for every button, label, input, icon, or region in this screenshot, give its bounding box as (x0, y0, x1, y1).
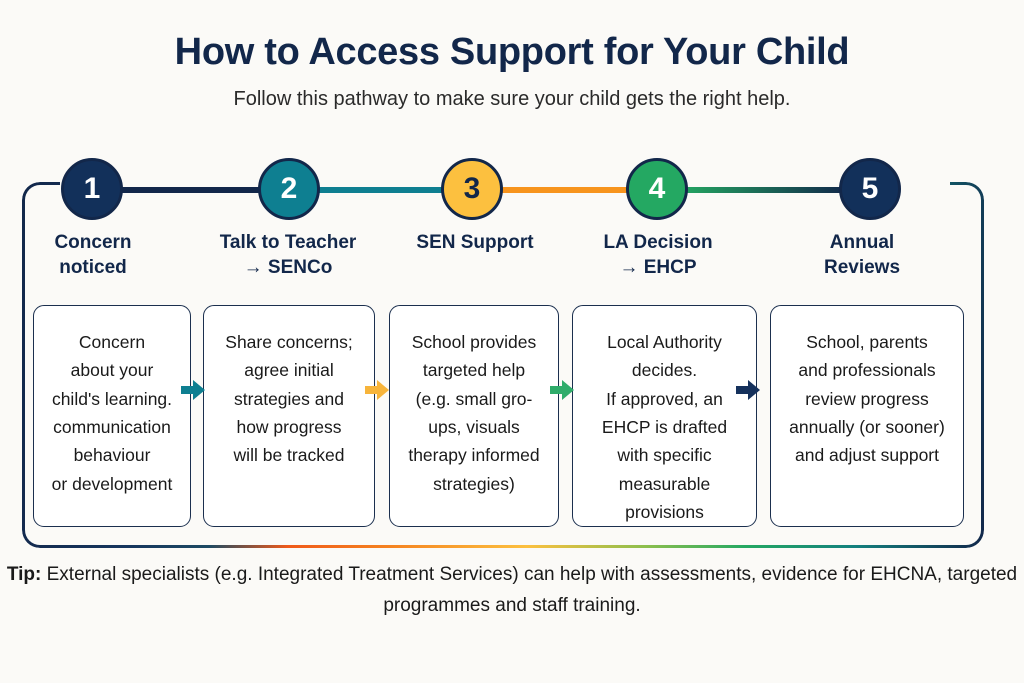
page-subtitle: Follow this pathway to make sure your ch… (0, 88, 1024, 111)
step-card-text-5: School, parents and professionals review… (771, 328, 963, 470)
header: How to Access Support for Your Child Fol… (0, 32, 1024, 111)
step-card-3[interactable]: School provides targeted help (e.g. smal… (389, 305, 559, 527)
step-heading-5: Annual Reviews (762, 230, 962, 280)
rail-connector-1-to-2 (114, 187, 267, 193)
step-card-1[interactable]: Concern about your child's learning. com… (33, 305, 191, 527)
step-card-text-4: Local Authority decides. If approved, an… (573, 328, 756, 526)
step-heading-2: Talk to Teacher → SENCo (196, 230, 380, 280)
tip-note: Tip: External specialists (e.g. Integrat… (0, 560, 1024, 622)
step-heading-3: SEN Support (384, 230, 566, 255)
step-card-text-1: Concern about your child's learning. com… (34, 328, 190, 498)
step-circle-3[interactable]: 3 (441, 158, 503, 220)
flow-arrow-4-to-5 (735, 377, 761, 403)
step-circle-5[interactable]: 5 (839, 158, 901, 220)
step-heading-4: LA Decision → EHCP (565, 230, 751, 280)
step-card-4[interactable]: Local Authority decides. If approved, an… (572, 305, 757, 527)
rail-connector-3-to-4 (494, 187, 635, 193)
rail-connector-4-to-5 (679, 187, 848, 193)
infographic-canvas: How to Access Support for Your Child Fol… (0, 0, 1024, 683)
step-card-5[interactable]: School, parents and professionals review… (770, 305, 964, 527)
flow-arrow-1-to-2 (180, 377, 206, 403)
flow-arrow-2-to-3 (364, 377, 390, 403)
tip-text: External specialists (e.g. Integrated Tr… (41, 564, 1017, 616)
tip-label: Tip: (7, 564, 41, 585)
step-rail: 12345 (0, 158, 1024, 222)
step-card-text-2: Share concerns; agree initial strategies… (204, 328, 374, 470)
flow-arrow-3-to-4 (549, 377, 575, 403)
step-circle-2[interactable]: 2 (258, 158, 320, 220)
step-card-2[interactable]: Share concerns; agree initial strategies… (203, 305, 375, 527)
rail-connector-2-to-3 (311, 187, 450, 193)
page-title: How to Access Support for Your Child (0, 32, 1024, 74)
step-card-text-3: School provides targeted help (e.g. smal… (390, 328, 558, 498)
step-heading-1: Concern noticed (12, 230, 174, 280)
step-circle-4[interactable]: 4 (626, 158, 688, 220)
step-circle-1[interactable]: 1 (61, 158, 123, 220)
